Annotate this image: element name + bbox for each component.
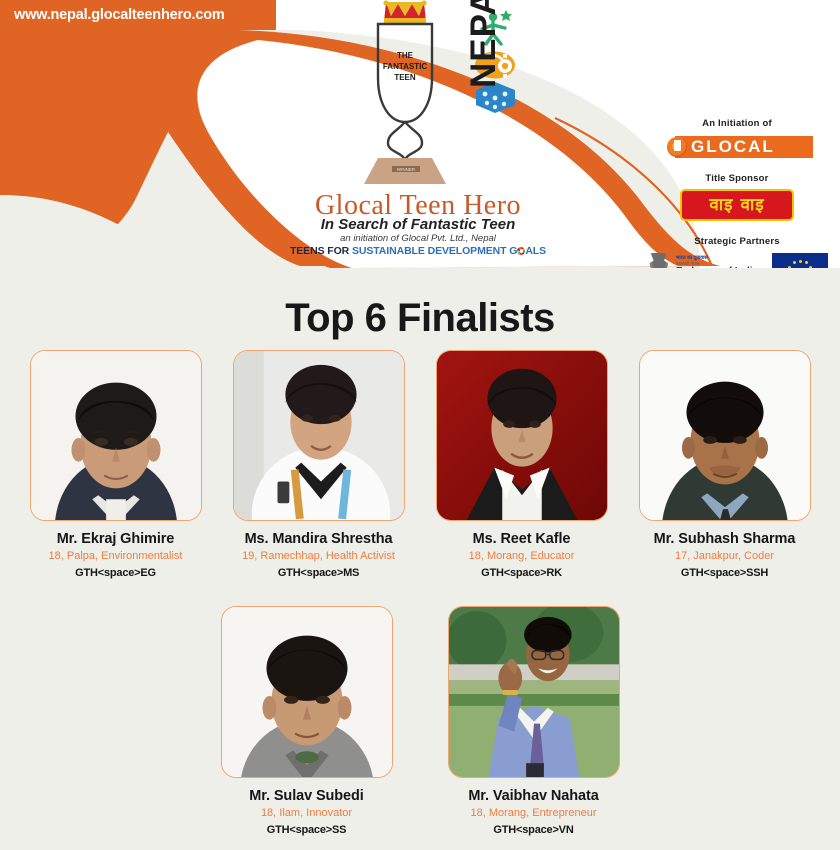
sdg-tagline-main: SUSTAINABLE DEVELOPMENT G [352, 245, 517, 257]
finalist-name: Mr. Vaibhav Nahata [448, 788, 620, 804]
embassy-of-india-logo[interactable]: भारत का दूतावास काठमाडौं, नेपाल Embassy … [646, 253, 758, 268]
finalist-photo [448, 606, 620, 778]
finalist-meta: 18, Palpa, Environmentalist [30, 550, 202, 562]
finalist-vote-code: GTH<space>VN [448, 824, 620, 836]
glocal-g-mark-icon [667, 137, 687, 157]
strategic-partners-row: भारत का दूतावास काठमाडौं, नेपाल Embassy … [642, 253, 832, 268]
finalist-photo [233, 350, 405, 521]
finalist-meta: 19, Ramechhap, Health Activist [233, 550, 405, 562]
title-sponsor-label: Title Sponsor [642, 173, 832, 184]
finalist-meta: 18, Morang, Entrepreneur [448, 807, 620, 819]
sdg-tagline-prefix: TEENS FOR [290, 245, 352, 257]
finalist-vote-code: GTH<space>EG [30, 567, 202, 579]
ashoka-lion-capital-icon [646, 253, 672, 268]
finalist-meta: 17, Janakpur, Coder [639, 550, 811, 562]
website-url-text: www.nepal.glocalteenhero.com [14, 7, 225, 23]
glocal-logo-text: GLOCAL [691, 136, 809, 158]
finalist-card[interactable]: Mr. Vaibhav Nahata 18, Morang, Entrepren… [448, 606, 620, 836]
finalist-vote-code: GTH<space>MS [233, 567, 405, 579]
finalist-meta: 18, Morang, Educator [436, 550, 608, 562]
initiation-label: An Initiation of [642, 118, 832, 129]
svg-text:THE: THE [397, 51, 414, 60]
finalist-photo [30, 350, 202, 521]
finalist-name: Mr. Sulav Subedi [221, 788, 393, 804]
finalist-name: Ms. Mandira Shrestha [233, 531, 405, 547]
finalist-card[interactable]: Mr. Sulav Subedi 18, Ilam, Innovator GTH… [221, 606, 393, 836]
trophy-base-label: WINNER [397, 167, 416, 172]
logo-subtitle: In Search of Fantastic Teen [268, 216, 568, 233]
glocal-teen-hero-logo: WINNER THE FANTASTIC TEEN [268, 0, 568, 268]
finalists-row-1: Mr. Ekraj Ghimire 18, Palpa, Environment… [0, 350, 840, 579]
finalist-name: Mr. Ekraj Ghimire [30, 531, 202, 547]
finalist-meta: 18, Ilam, Innovator [221, 807, 393, 819]
finalist-card[interactable]: Ms. Mandira Shrestha 19, Ramechhap, Heal… [233, 350, 405, 579]
hero-banner: www.nepal.glocalteenhero.com WINNER THE [0, 0, 840, 268]
finalist-name: Mr. Subhash Sharma [639, 531, 811, 547]
sponsors-panel: An Initiation of GLOCAL Title Sponsor वा… [642, 118, 832, 268]
finalist-vote-code: GTH<space>RK [436, 567, 608, 579]
logo-country-label: NEPAL [464, 0, 504, 88]
sdg-tagline-suffix: ALS [525, 245, 546, 257]
european-union-flag-icon [772, 253, 828, 268]
finalists-row-2: Mr. Sulav Subedi 18, Ilam, Innovator GTH… [0, 606, 840, 836]
sdg-tagline: TEENS FOR SUSTAINABLE DEVELOPMENT GALS [268, 245, 568, 257]
wai-wai-logo[interactable]: वाइ वाइ [680, 189, 794, 221]
svg-text:FANTASTIC: FANTASTIC [383, 62, 428, 71]
embassy-name: Embassy of India [676, 266, 758, 269]
finalist-card[interactable]: Mr. Ekraj Ghimire 18, Palpa, Environment… [30, 350, 202, 579]
svg-text:TEEN: TEEN [394, 73, 416, 82]
website-url-bar[interactable]: www.nepal.glocalteenhero.com [0, 0, 276, 30]
finalist-photo [639, 350, 811, 521]
finalist-vote-code: GTH<space>SS [221, 824, 393, 836]
finalist-card[interactable]: Ms. Reet Kafle 18, Morang, Educator GTH<… [436, 350, 608, 579]
strategic-partners-label: Strategic Partners [642, 236, 832, 247]
european-union-logo[interactable]: European Union [772, 253, 828, 268]
finalist-vote-code: GTH<space>SSH [639, 567, 811, 579]
finalist-photo [436, 350, 608, 521]
finalist-name: Ms. Reet Kafle [436, 531, 608, 547]
glocal-logo[interactable]: GLOCAL [661, 134, 813, 160]
finalist-card[interactable]: Mr. Subhash Sharma 17, Janakpur, Coder G… [639, 350, 811, 579]
page-title: Top 6 Finalists [0, 296, 840, 341]
finalist-photo [221, 606, 393, 778]
logo-attribution: an initiation of Glocal Pvt. Ltd., Nepal [268, 233, 568, 244]
